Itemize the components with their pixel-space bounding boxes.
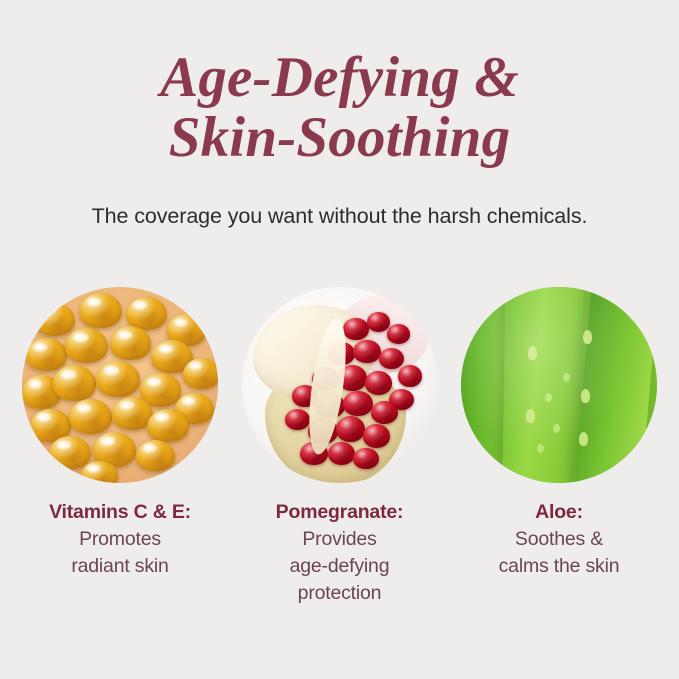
ingredient-card-vitamins: Vitamins C & E: Promotes radiant skin bbox=[22, 287, 218, 607]
headline: Age-Defying & Skin-Soothing bbox=[0, 48, 679, 168]
ingredient-card-aloe: Aloe: Soothes & calms the skin bbox=[461, 287, 657, 607]
ingredient-caption-pomegranate: Pomegranate: Provides age-defying protec… bbox=[276, 499, 404, 607]
ingredient-card-pomegranate: Pomegranate: Provides age-defying protec… bbox=[242, 287, 438, 607]
headline-line-2: Skin-Soothing bbox=[0, 108, 679, 168]
pomegranate-fruit-photo bbox=[242, 287, 438, 483]
ingredient-desc-line: calms the skin bbox=[499, 553, 620, 580]
vitamin-softgel-capsules-photo bbox=[22, 287, 218, 483]
ingredient-desc-line: Provides bbox=[276, 526, 404, 553]
aloe-vera-leaves-photo bbox=[461, 287, 657, 483]
ingredient-desc-line: Soothes & bbox=[499, 526, 620, 553]
ingredient-row: Vitamins C & E: Promotes radiant skin bbox=[0, 287, 679, 607]
ingredient-label: Aloe: bbox=[499, 499, 620, 526]
product-benefits-poster: Age-Defying & Skin-Soothing The coverage… bbox=[0, 0, 679, 679]
ingredient-desc-line: radiant skin bbox=[49, 553, 191, 580]
ingredient-caption-aloe: Aloe: Soothes & calms the skin bbox=[499, 499, 620, 580]
subtitle: The coverage you want without the harsh … bbox=[0, 204, 679, 229]
ingredient-label: Pomegranate: bbox=[276, 499, 404, 526]
ingredient-desc-line: age-defying bbox=[276, 553, 404, 580]
ingredient-caption-vitamins: Vitamins C & E: Promotes radiant skin bbox=[49, 499, 191, 580]
headline-line-1: Age-Defying & bbox=[0, 48, 679, 108]
ingredient-label: Vitamins C & E: bbox=[49, 499, 191, 526]
ingredient-desc-line: protection bbox=[276, 580, 404, 607]
ingredient-desc-line: Promotes bbox=[49, 526, 191, 553]
